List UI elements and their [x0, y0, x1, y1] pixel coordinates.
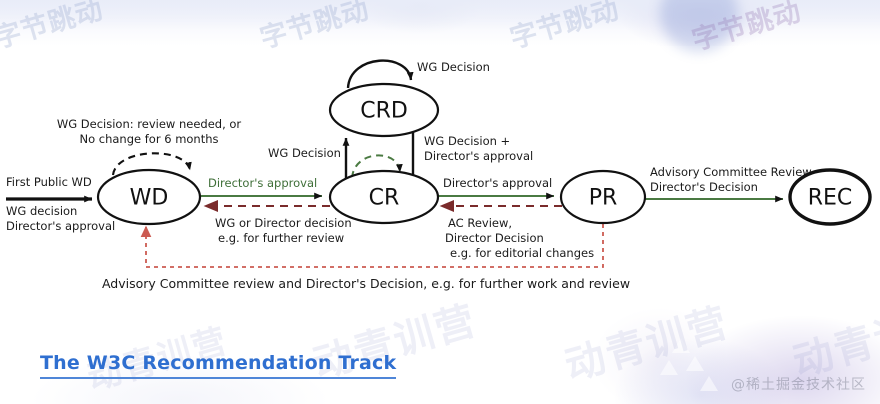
label-pr-to-cr-line1: AC Review,	[448, 216, 512, 230]
decor-triangle	[672, 338, 690, 353]
label-wd-loop-line1: WG Decision: review needed, or	[57, 117, 242, 131]
corner-watermark: @稀土掘金技术社区	[731, 374, 866, 394]
label-wd-loop-line2: No change for 6 months	[79, 132, 218, 146]
label-crd-to-cr-line2: Director's approval	[424, 149, 533, 163]
label-bottom-caption: Advisory Committee review and Director's…	[102, 276, 630, 291]
label-pr-to-rec-line1: Advisory Committee Review	[650, 165, 812, 179]
node-crd-label: CRD	[360, 99, 408, 124]
label-cr-to-pr: Director's approval	[443, 176, 552, 190]
node-rec-label: REC	[808, 186, 853, 211]
node-crd[interactable]: CRD	[330, 84, 438, 136]
node-pr-label: PR	[589, 186, 618, 211]
label-wd-to-cr: Director's approval	[208, 176, 317, 190]
node-wd[interactable]: WD	[98, 170, 200, 224]
node-rec[interactable]: REC	[790, 170, 870, 224]
label-cr-to-crd: WG Decision	[268, 146, 341, 160]
node-pr[interactable]: PR	[561, 171, 645, 223]
label-cr-to-wd-line1: WG or Director decision	[215, 216, 352, 230]
label-wg-decision-entry: WG decision	[6, 204, 77, 218]
slide-canvas: 字节跳动 字节跳动 字节跳动 字节跳动 动青训营 动青训营 动青训营 动青训营	[0, 0, 880, 404]
label-pr-to-rec-line2: Director's Decision	[650, 180, 758, 194]
page-title: The W3C Recommendation Track	[40, 352, 396, 379]
label-cr-to-wd-line2: e.g. for further review	[218, 231, 344, 245]
label-crd-to-cr-line1: WG Decision +	[424, 134, 510, 148]
label-pr-to-cr-line3: e.g. for editorial changes	[450, 246, 594, 260]
node-wd-label: WD	[130, 186, 169, 211]
decor-triangle	[700, 376, 718, 391]
label-directors-approval-entry: Director's approval	[6, 219, 115, 233]
decor-triangle	[660, 360, 678, 375]
label-pr-to-cr-line2: Director Decision	[445, 231, 544, 245]
node-cr[interactable]: CR	[330, 171, 438, 223]
node-cr-label: CR	[369, 186, 400, 211]
label-crd-loop: WG Decision	[417, 60, 490, 74]
decor-triangle	[686, 356, 704, 371]
w3c-recommendation-track-diagram: First Public WD WG decision Director's a…	[0, 0, 880, 330]
label-first-public-wd: First Public WD	[6, 175, 92, 189]
